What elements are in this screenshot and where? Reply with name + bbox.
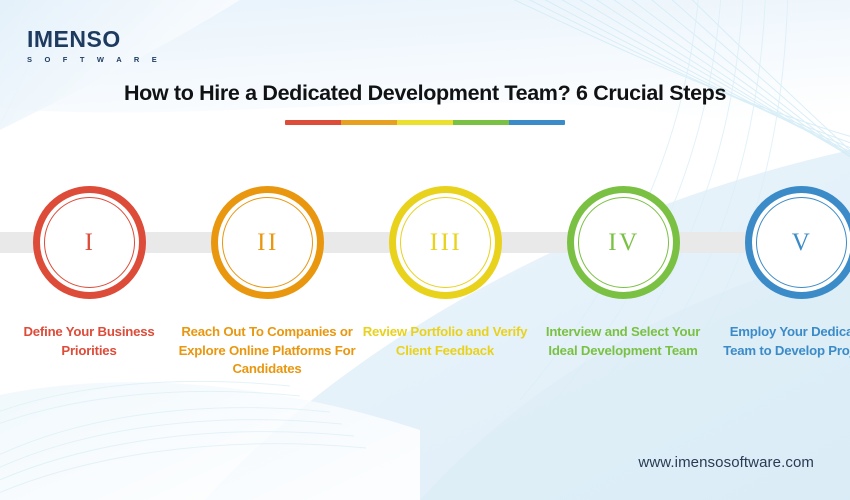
step-circle-1: I (33, 186, 146, 299)
step-item-1: I Define Your Business Priorities (0, 186, 178, 379)
step-numeral-5: V (790, 230, 813, 255)
page-title: How to Hire a Dedicated Development Team… (0, 82, 850, 106)
step-caption-2: Reach Out To Companies or Explore Online… (178, 323, 356, 379)
rule-segment-5 (509, 120, 565, 125)
step-numeral-4: IV (606, 230, 639, 255)
rule-segment-4 (453, 120, 509, 125)
step-caption-1: Define Your Business Priorities (0, 323, 178, 360)
step-numeral-2: II (255, 230, 279, 255)
logo-tagline: S O F T W A R E (27, 56, 162, 64)
step-item-3: III Review Portfolio and Verify Client F… (356, 186, 534, 379)
title-underline-bar (285, 120, 565, 125)
step-numeral-3: III (428, 230, 462, 255)
step-item-5: V Employ Your Dedicated Team to Develop … (712, 186, 850, 379)
step-item-2: II Reach Out To Companies or Explore Onl… (178, 186, 356, 379)
rule-segment-1 (285, 120, 341, 125)
step-numeral-1: I (83, 230, 96, 255)
brand-logo: IMENSO S O F T W A R E (27, 28, 162, 64)
footer-website-url[interactable]: www.imensosoftware.com (638, 454, 814, 471)
step-item-4: IV Interview and Select Your Ideal Devel… (534, 186, 712, 379)
infographic-canvas: IMENSO S O F T W A R E How to Hire a Ded… (0, 0, 850, 500)
step-caption-3: Review Portfolio and Verify Client Feedb… (356, 323, 534, 360)
rule-segment-3 (397, 120, 453, 125)
page-title-text: How to Hire a Dedicated Development Team… (124, 82, 726, 106)
step-circle-5: V (745, 186, 850, 299)
logo-wordmark: IMENSO (27, 28, 162, 51)
step-circle-2: II (211, 186, 324, 299)
step-caption-4: Interview and Select Your Ideal Developm… (534, 323, 712, 360)
step-circle-4: IV (567, 186, 680, 299)
step-caption-5: Employ Your Dedicated Team to Develop Pr… (712, 323, 850, 360)
rule-segment-2 (341, 120, 397, 125)
steps-row: I Define Your Business Priorities II Rea… (0, 186, 850, 379)
step-circle-3: III (389, 186, 502, 299)
